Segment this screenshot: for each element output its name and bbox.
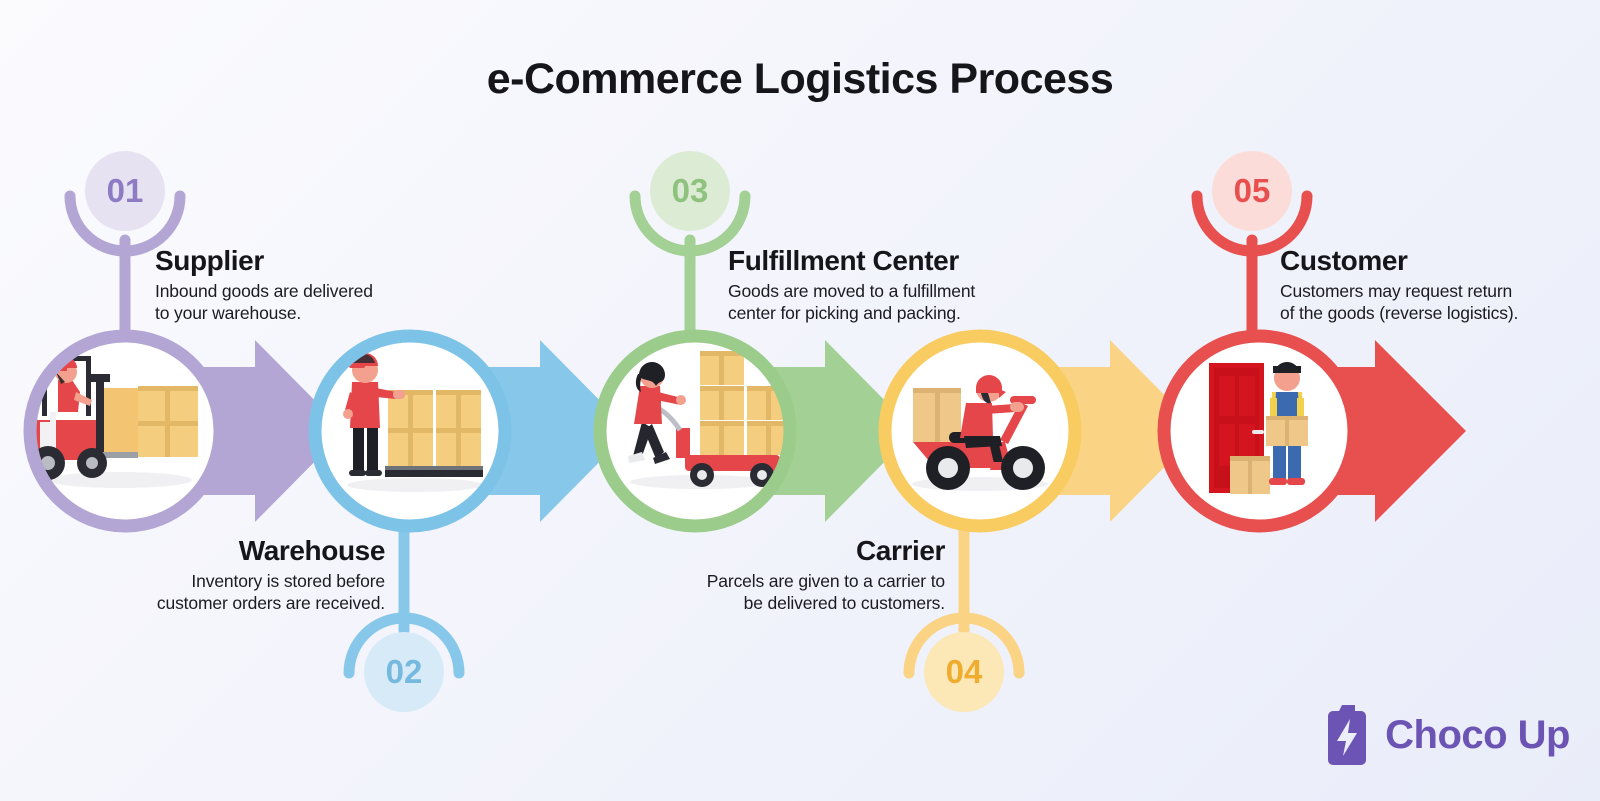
step-badge-5[interactable]: 05	[1212, 151, 1292, 231]
battery-bolt-icon	[1325, 705, 1372, 765]
home-delivery-icon	[1209, 362, 1308, 494]
step-circle-4[interactable]	[885, 336, 1075, 526]
step-badge-1[interactable]: 01	[85, 151, 165, 231]
choco-up-wordmark: Choco Up	[1385, 713, 1570, 758]
process-diagram	[0, 0, 1600, 801]
step-description-3: Goods are moved to a fulfillment center …	[728, 281, 1048, 325]
step-title-4: Carrier	[640, 535, 945, 566]
step-title-3: Fulfillment Center	[728, 245, 1048, 276]
step-text-1: Supplier Inbound goods are delivered to …	[155, 245, 445, 325]
infographic-root: e-Commerce Logistics Process	[0, 0, 1600, 801]
step-circle-1[interactable]	[30, 336, 220, 526]
step-description-5: Customers may request return of the good…	[1280, 281, 1590, 325]
step-text-2: Warehouse Inventory is stored before cus…	[95, 535, 385, 615]
step-badge-1-number: 01	[107, 172, 144, 210]
step-text-4: Carrier Parcels are given to a carrier t…	[640, 535, 945, 615]
step-circle-2[interactable]	[315, 336, 505, 526]
step-badge-5-number: 05	[1234, 172, 1271, 210]
step-description-2: Inventory is stored before customer orde…	[95, 571, 385, 615]
step-badge-2[interactable]: 02	[364, 632, 444, 712]
step-badge-4[interactable]: 04	[924, 632, 1004, 712]
step-badge-3-number: 03	[672, 172, 709, 210]
choco-up-logo[interactable]: Choco Up	[1325, 705, 1570, 765]
step-badge-4-number: 04	[946, 653, 983, 691]
step-badge-2-number: 02	[386, 653, 423, 691]
step-circle-3[interactable]	[600, 336, 791, 526]
step-circle-5[interactable]	[1164, 336, 1354, 526]
step-text-5: Customer Customers may request return of…	[1280, 245, 1590, 325]
step-description-4: Parcels are given to a carrier to be del…	[640, 571, 945, 615]
step-description-1: Inbound goods are delivered to your ware…	[155, 281, 445, 325]
step-text-3: Fulfillment Center Goods are moved to a …	[728, 245, 1048, 325]
step-title-5: Customer	[1280, 245, 1590, 276]
step-title-1: Supplier	[155, 245, 445, 276]
step-title-2: Warehouse	[95, 535, 385, 566]
step-badge-3[interactable]: 03	[650, 151, 730, 231]
